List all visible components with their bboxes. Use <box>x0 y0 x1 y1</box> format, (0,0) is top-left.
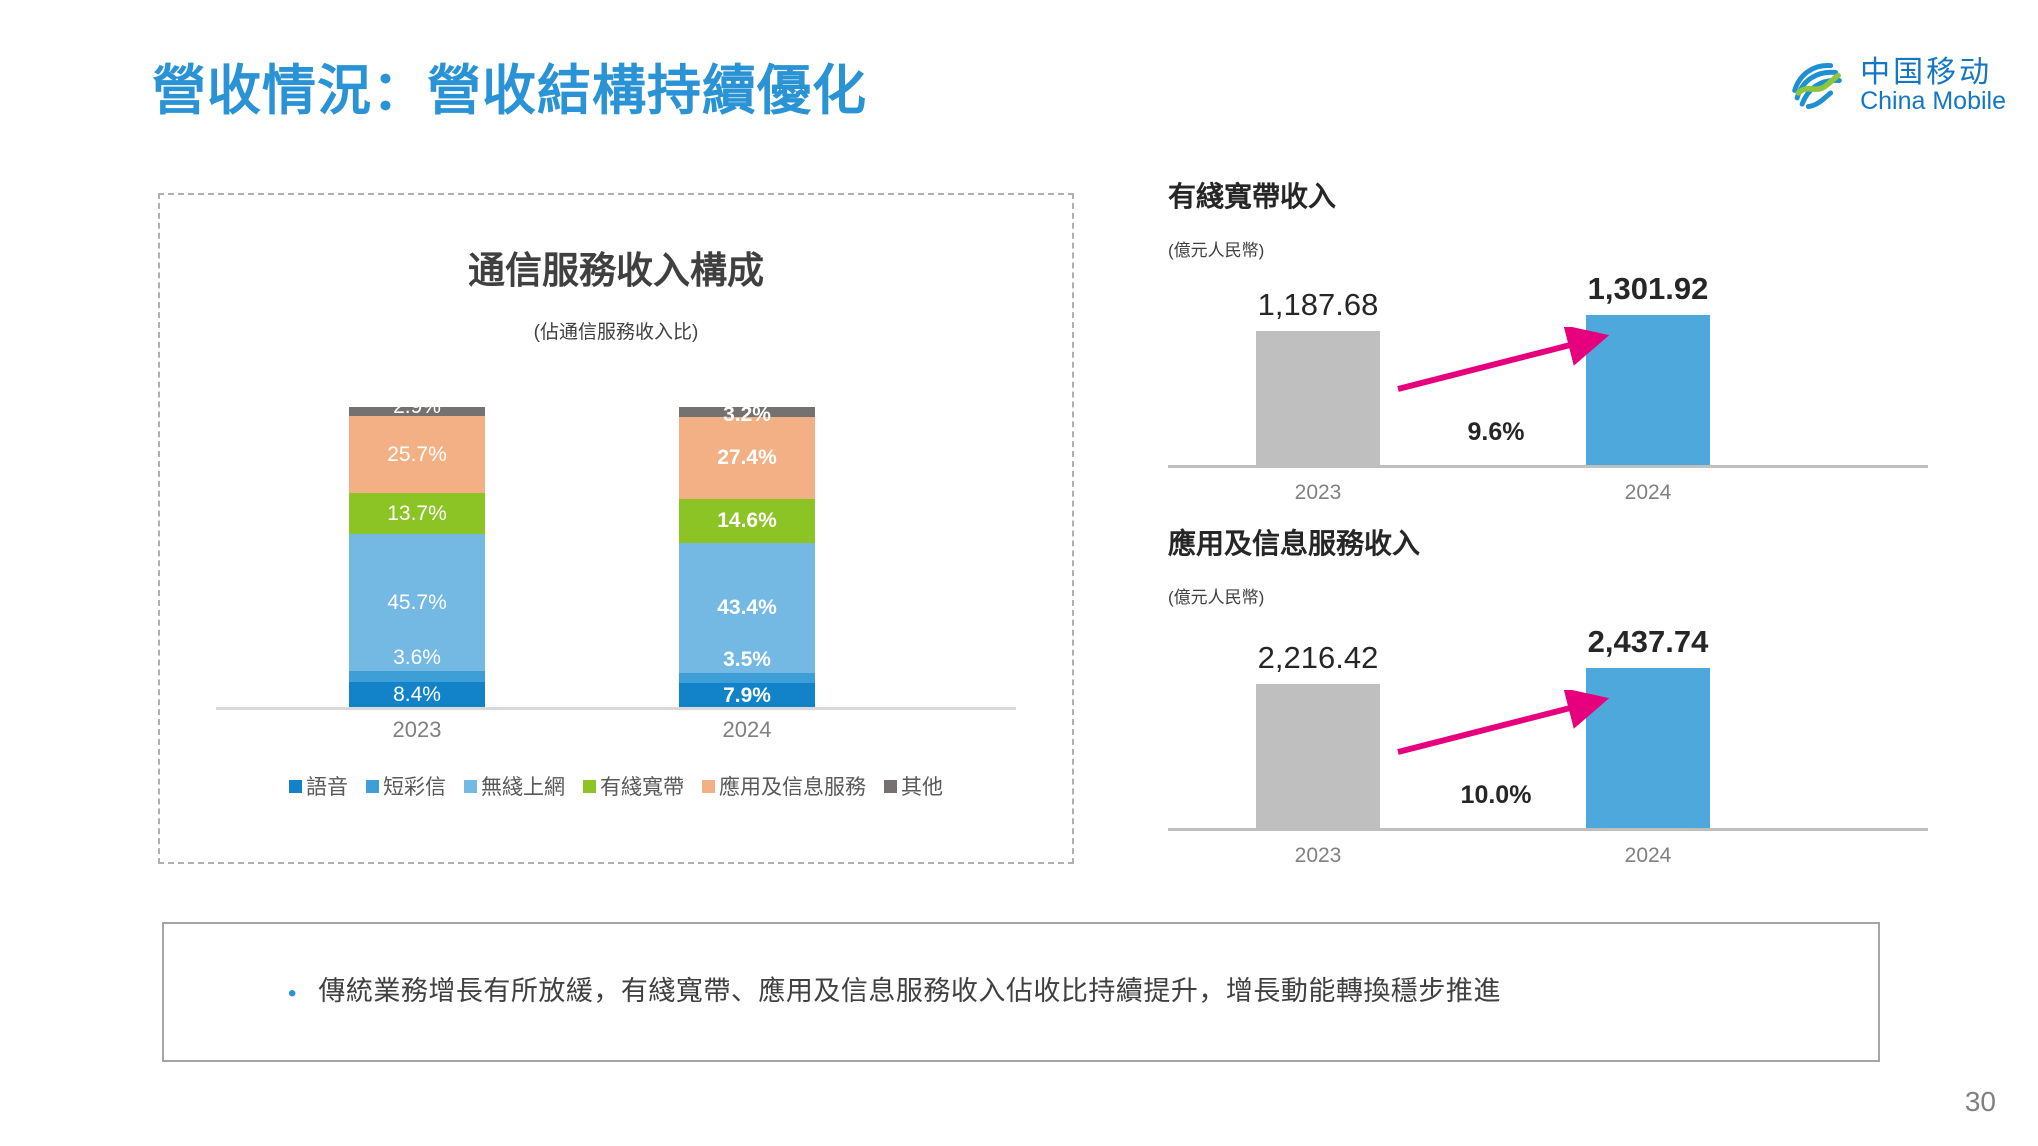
appinfo-chart-title: 應用及信息服務收入 <box>1168 527 1928 561</box>
segment-label: 3.6% <box>393 647 441 668</box>
legend-swatch-icon <box>583 780 596 793</box>
segment-broadband-2024[interactable]: 14.6% <box>679 499 815 543</box>
broadband-plot-area: 1,187.68 1,301.92 9.6% <box>1168 273 1928 465</box>
growth-arrow-icon <box>1390 327 1610 407</box>
broadband-value-2023: 1,187.68 <box>1188 287 1448 323</box>
segment-voice-2023[interactable]: 8.4% <box>349 682 485 707</box>
composition-chart-panel: 通信服務收入構成 (佔通信服務收入比) 25.7% 13.7% 45.7% 3.… <box>158 193 1074 864</box>
segment-voice-2024[interactable]: 7.9% <box>679 683 815 707</box>
composition-baseline <box>216 707 1016 710</box>
composition-chart-subtitle: (佔通信服務收入比) <box>160 317 1072 344</box>
legend-swatch-icon <box>702 780 715 793</box>
segment-other-2024-label: 3.2% <box>679 403 815 427</box>
segment-label: 3.5% <box>723 649 771 670</box>
broadband-x-axis: 2023 2024 <box>1168 481 1928 511</box>
legend-label: 無綫上網 <box>481 771 565 801</box>
logo-wordmark: 中国移动 China Mobile <box>1860 57 2006 115</box>
legend-swatch-icon <box>289 780 302 793</box>
composition-legend: 語音 短彩信 無綫上網 有綫寬帶 應用及信息服務 其他 <box>160 771 1072 801</box>
legend-label: 有綫寬帶 <box>600 771 684 801</box>
appinfo-bar-2024[interactable] <box>1586 668 1710 828</box>
broadband-bar-2023[interactable] <box>1256 331 1380 465</box>
china-mobile-logo: 中国移动 China Mobile <box>1786 52 2006 119</box>
segment-label: 7.9% <box>723 685 771 706</box>
summary-note-text: 傳統業務增長有所放緩，有綫寬帶、應用及信息服務收入佔收比持續提升，增長動能轉換穩… <box>318 974 1501 1009</box>
composition-chart-title: 通信服務收入構成 <box>160 240 1072 294</box>
legend-item-broadband[interactable]: 有綫寬帶 <box>583 771 684 801</box>
segment-appinfo-2023[interactable]: 25.7% <box>349 416 485 493</box>
legend-item-wireless[interactable]: 無綫上網 <box>464 771 565 801</box>
broadband-growth-label: 9.6% <box>1416 418 1576 447</box>
page-title: 營收情況：營收結構持續優化 <box>152 46 867 125</box>
bullet-icon: • <box>288 980 296 1009</box>
composition-x-axis: 2023 2024 <box>216 717 1016 747</box>
legend-label: 短彩信 <box>383 771 446 801</box>
legend-item-appinfo[interactable]: 應用及信息服務 <box>702 771 866 801</box>
summary-note-box: • 傳統業務增長有所放緩，有綫寬帶、應用及信息服務收入佔收比持續提升，增長動能轉… <box>162 922 1880 1062</box>
x-tick-2024: 2024 <box>679 717 815 743</box>
appinfo-axis-line <box>1168 828 1928 831</box>
page-number: 30 <box>1965 1086 1996 1118</box>
legend-label: 應用及信息服務 <box>719 771 866 801</box>
legend-swatch-icon <box>884 780 897 793</box>
stacked-bar-2024[interactable]: 27.4% 14.6% 43.4% 3.5% 7.9% <box>679 407 815 707</box>
broadband-chart-title: 有綫寬帶收入 <box>1168 180 1928 214</box>
segment-label: 13.7% <box>387 503 447 524</box>
appinfo-growth-label: 10.0% <box>1416 781 1576 810</box>
appinfo-x-axis: 2023 2024 <box>1168 844 1928 874</box>
legend-swatch-icon <box>464 780 477 793</box>
appinfo-value-2023: 2,216.42 <box>1188 640 1448 676</box>
legend-label: 語音 <box>306 771 348 801</box>
x-tick-2024: 2024 <box>1586 481 1710 505</box>
segment-other-2023-label: 2.9% <box>349 395 485 419</box>
logo-text-cn: 中国移动 <box>1860 57 2006 89</box>
segment-label: 27.4% <box>717 447 777 468</box>
appinfo-value-2024: 2,437.74 <box>1518 624 1778 660</box>
segment-label: 45.7% <box>387 592 447 613</box>
legend-label: 其他 <box>901 771 943 801</box>
legend-swatch-icon <box>366 780 379 793</box>
segment-label: 14.6% <box>717 510 777 531</box>
broadband-axis-line <box>1168 465 1928 468</box>
broadband-value-2024: 1,301.92 <box>1518 271 1778 307</box>
appinfo-chart-unit: (億元人民幣) <box>1168 583 1928 608</box>
composition-plot-area: 25.7% 13.7% 45.7% 3.6% 8.4% 2.9% <box>216 380 1016 710</box>
appinfo-bar-2023[interactable] <box>1256 684 1380 828</box>
legend-item-voice[interactable]: 語音 <box>289 771 348 801</box>
segment-broadband-2023[interactable]: 13.7% <box>349 493 485 534</box>
x-tick-2023: 2023 <box>1256 844 1380 868</box>
broadband-revenue-chart: 有綫寬帶收入 (億元人民幣) 1,187.68 1,301.92 9.6% 20… <box>1168 180 1928 511</box>
growth-arrow-icon <box>1390 690 1610 770</box>
segment-label: 25.7% <box>387 444 447 465</box>
legend-item-other[interactable]: 其他 <box>884 771 943 801</box>
x-tick-2023: 2023 <box>1256 481 1380 505</box>
slide-canvas: 營收情況：營收結構持續優化 中国移动 China Mobile 通信服務收入構成… <box>0 0 2038 1146</box>
segment-label: 43.4% <box>717 597 777 618</box>
summary-note-row: • 傳統業務增長有所放緩，有綫寬帶、應用及信息服務收入佔收比持續提升，增長動能轉… <box>288 974 1501 1009</box>
stacked-bar-2023[interactable]: 25.7% 13.7% 45.7% 3.6% 8.4% <box>349 407 485 707</box>
segment-sms-2023[interactable]: 3.6% <box>349 671 485 682</box>
segment-sms-2024[interactable]: 3.5% <box>679 673 815 684</box>
china-mobile-logo-icon <box>1786 52 1848 119</box>
appinfo-plot-area: 2,216.42 2,437.74 10.0% <box>1168 620 1928 828</box>
legend-item-sms[interactable]: 短彩信 <box>366 771 446 801</box>
segment-appinfo-2024[interactable]: 27.4% <box>679 417 815 499</box>
appinfo-revenue-chart: 應用及信息服務收入 (億元人民幣) 2,216.42 2,437.74 10.0… <box>1168 527 1928 874</box>
broadband-chart-unit: (億元人民幣) <box>1168 236 1928 261</box>
x-tick-2023: 2023 <box>349 717 485 743</box>
x-tick-2024: 2024 <box>1586 844 1710 868</box>
logo-text-en: China Mobile <box>1860 88 2006 114</box>
segment-label: 8.4% <box>393 684 441 705</box>
broadband-bar-2024[interactable] <box>1586 315 1710 465</box>
